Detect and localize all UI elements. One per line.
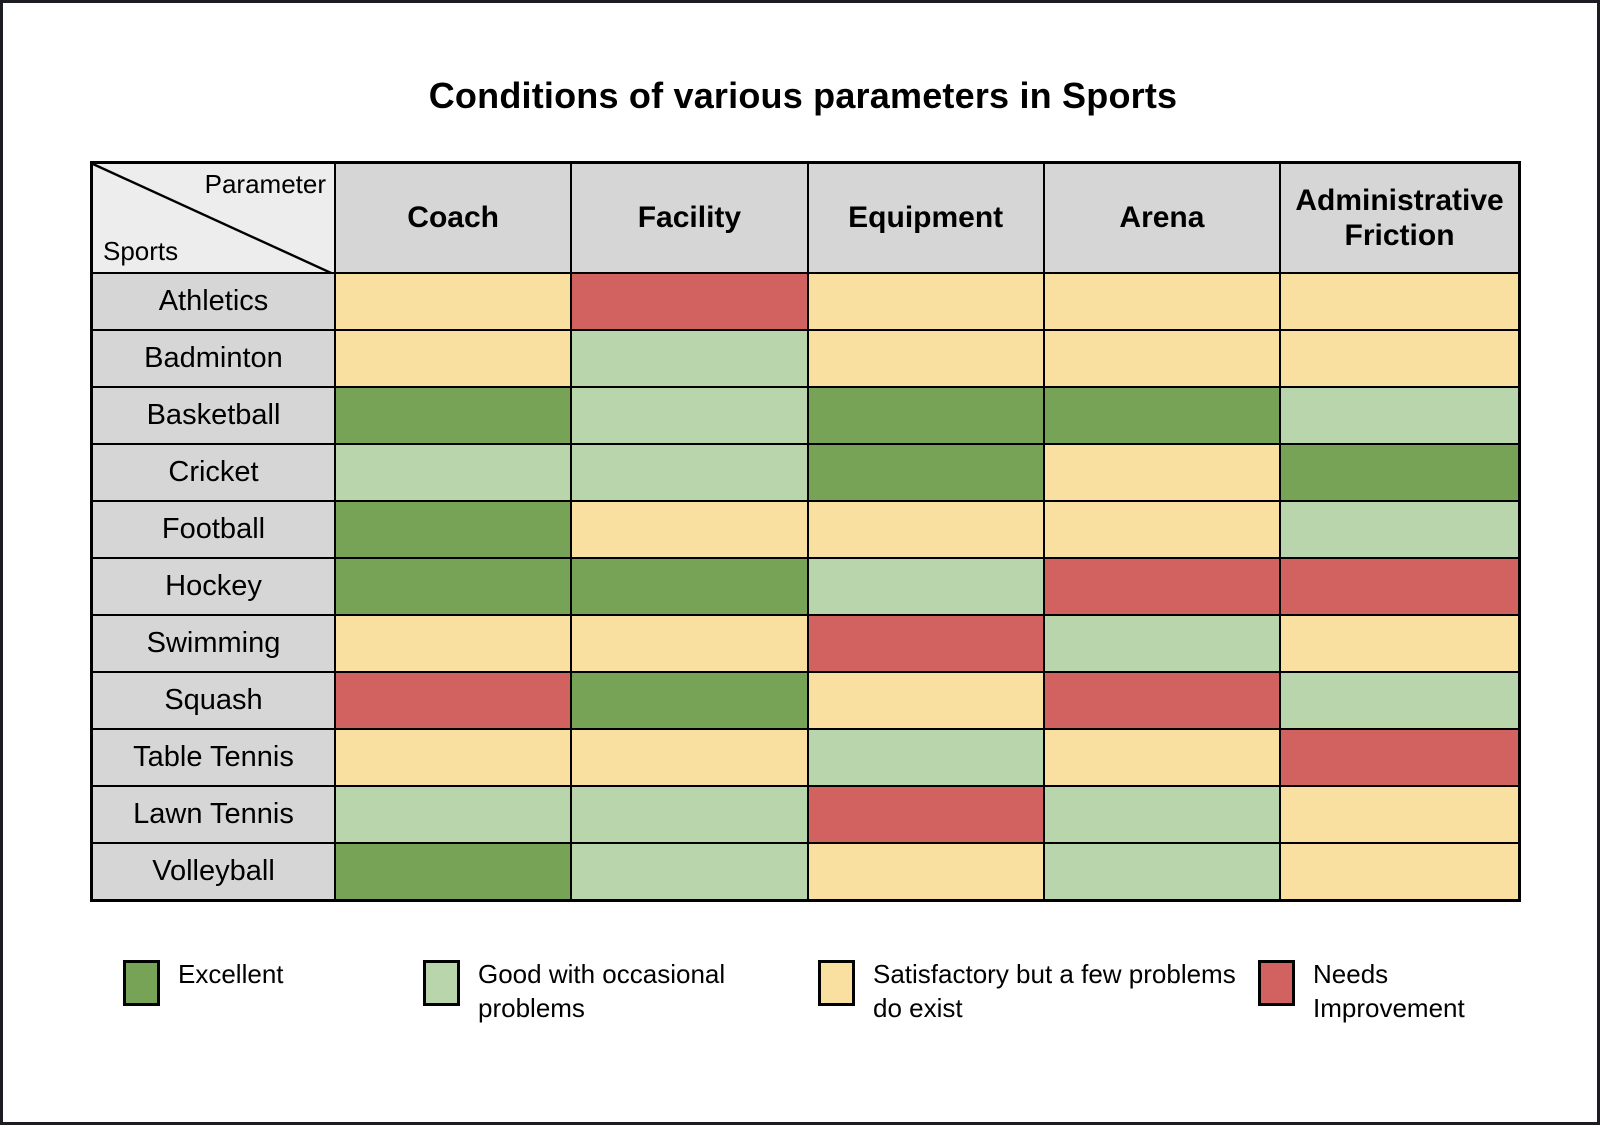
matrix-cell	[335, 273, 571, 330]
legend-label-excellent: Excellent	[178, 958, 284, 992]
column-header-arena: Arena	[1044, 163, 1280, 274]
matrix-cell	[335, 672, 571, 729]
header-row: Parameter Sports Coach Facility Equipmen…	[92, 163, 1520, 274]
matrix-cell	[1280, 615, 1519, 672]
matrix-cell	[1280, 387, 1519, 444]
matrix-cell	[335, 501, 571, 558]
matrix-cell	[1044, 786, 1280, 843]
matrix-cell	[808, 330, 1044, 387]
matrix-cell	[808, 273, 1044, 330]
matrix-cell	[1044, 615, 1280, 672]
matrix-cell	[1280, 501, 1519, 558]
matrix-cell	[808, 843, 1044, 901]
matrix-cell	[335, 387, 571, 444]
matrix-cell	[1280, 843, 1519, 901]
matrix-head: Parameter Sports Coach Facility Equipmen…	[92, 163, 1520, 274]
row-header-volleyball: Volleyball	[92, 843, 336, 901]
matrix-cell	[571, 786, 807, 843]
table-row: Lawn Tennis	[92, 786, 1520, 843]
table-row: Squash	[92, 672, 1520, 729]
table-row: Football	[92, 501, 1520, 558]
matrix-cell	[1044, 444, 1280, 501]
matrix-cell	[808, 444, 1044, 501]
column-header-equipment: Equipment	[808, 163, 1044, 274]
column-axis-label: Parameter	[205, 170, 326, 199]
matrix-cell	[1044, 501, 1280, 558]
matrix-cell	[1280, 672, 1519, 729]
row-header-basketball: Basketball	[92, 387, 336, 444]
matrix-cell	[571, 273, 807, 330]
row-header-hockey: Hockey	[92, 558, 336, 615]
matrix-cell	[335, 558, 571, 615]
table-row: Athletics	[92, 273, 1520, 330]
row-header-badminton: Badminton	[92, 330, 336, 387]
legend-item-needs: Needs Improvement	[1258, 958, 1508, 1026]
legend-swatch-good	[423, 960, 460, 1006]
matrix-cell	[571, 843, 807, 901]
legend-label-satisfactory: Satisfactory but a few problems do exist	[873, 958, 1258, 1026]
matrix-cell	[1044, 558, 1280, 615]
column-header-coach: Coach	[335, 163, 571, 274]
matrix-cell	[335, 729, 571, 786]
column-header-administrative-friction: Administrative Friction	[1280, 163, 1519, 274]
matrix-cell	[335, 330, 571, 387]
matrix-cell	[571, 330, 807, 387]
matrix-cell	[1044, 330, 1280, 387]
matrix-cell	[335, 786, 571, 843]
matrix-cell	[1044, 843, 1280, 901]
matrix-cell	[1044, 387, 1280, 444]
matrix-cell	[571, 729, 807, 786]
legend-item-excellent: Excellent	[123, 958, 423, 1006]
legend-item-satisfactory: Satisfactory but a few problems do exist	[818, 958, 1258, 1026]
matrix-cell	[808, 672, 1044, 729]
legend-swatch-needs	[1258, 960, 1295, 1006]
corner-axis-header: Parameter Sports	[92, 163, 336, 274]
table-row: Swimming	[92, 615, 1520, 672]
legend-item-good: Good with occasional problems	[423, 958, 818, 1026]
matrix-cell	[1044, 672, 1280, 729]
row-header-cricket: Cricket	[92, 444, 336, 501]
matrix-cell	[335, 843, 571, 901]
row-header-squash: Squash	[92, 672, 336, 729]
legend: ExcellentGood with occasional problemsSa…	[123, 958, 1523, 1026]
column-header-facility: Facility	[571, 163, 807, 274]
matrix-cell	[1280, 558, 1519, 615]
matrix-cell	[1280, 786, 1519, 843]
matrix-container: Parameter Sports Coach Facility Equipmen…	[90, 161, 1521, 902]
legend-label-needs: Needs Improvement	[1313, 958, 1508, 1026]
matrix-cell	[571, 501, 807, 558]
row-header-football: Football	[92, 501, 336, 558]
matrix-cell	[1280, 729, 1519, 786]
row-header-swimming: Swimming	[92, 615, 336, 672]
legend-label-good: Good with occasional problems	[478, 958, 818, 1026]
table-row: Basketball	[92, 387, 1520, 444]
matrix-cell	[808, 615, 1044, 672]
row-header-lawn-tennis: Lawn Tennis	[92, 786, 336, 843]
matrix-cell	[335, 444, 571, 501]
matrix-cell	[1280, 330, 1519, 387]
matrix-cell	[571, 615, 807, 672]
page-title: Conditions of various parameters in Spor…	[3, 75, 1600, 117]
row-header-athletics: Athletics	[92, 273, 336, 330]
table-row: Volleyball	[92, 843, 1520, 901]
table-row: Table Tennis	[92, 729, 1520, 786]
conditions-matrix: Parameter Sports Coach Facility Equipmen…	[90, 161, 1521, 902]
table-row: Badminton	[92, 330, 1520, 387]
figure-canvas: Conditions of various parameters in Spor…	[0, 0, 1600, 1125]
matrix-body: AthleticsBadmintonBasketballCricketFootb…	[92, 273, 1520, 901]
matrix-cell	[1044, 273, 1280, 330]
row-header-table-tennis: Table Tennis	[92, 729, 336, 786]
table-row: Hockey	[92, 558, 1520, 615]
matrix-cell	[808, 558, 1044, 615]
matrix-cell	[808, 729, 1044, 786]
matrix-cell	[1280, 273, 1519, 330]
matrix-cell	[335, 615, 571, 672]
matrix-cell	[571, 672, 807, 729]
matrix-cell	[808, 501, 1044, 558]
legend-swatch-excellent	[123, 960, 160, 1006]
matrix-cell	[571, 387, 807, 444]
matrix-cell	[808, 786, 1044, 843]
matrix-cell	[571, 558, 807, 615]
matrix-cell	[808, 387, 1044, 444]
row-axis-label: Sports	[103, 237, 178, 266]
matrix-cell	[571, 444, 807, 501]
matrix-cell	[1280, 444, 1519, 501]
legend-swatch-satisfactory	[818, 960, 855, 1006]
matrix-cell	[1044, 729, 1280, 786]
table-row: Cricket	[92, 444, 1520, 501]
